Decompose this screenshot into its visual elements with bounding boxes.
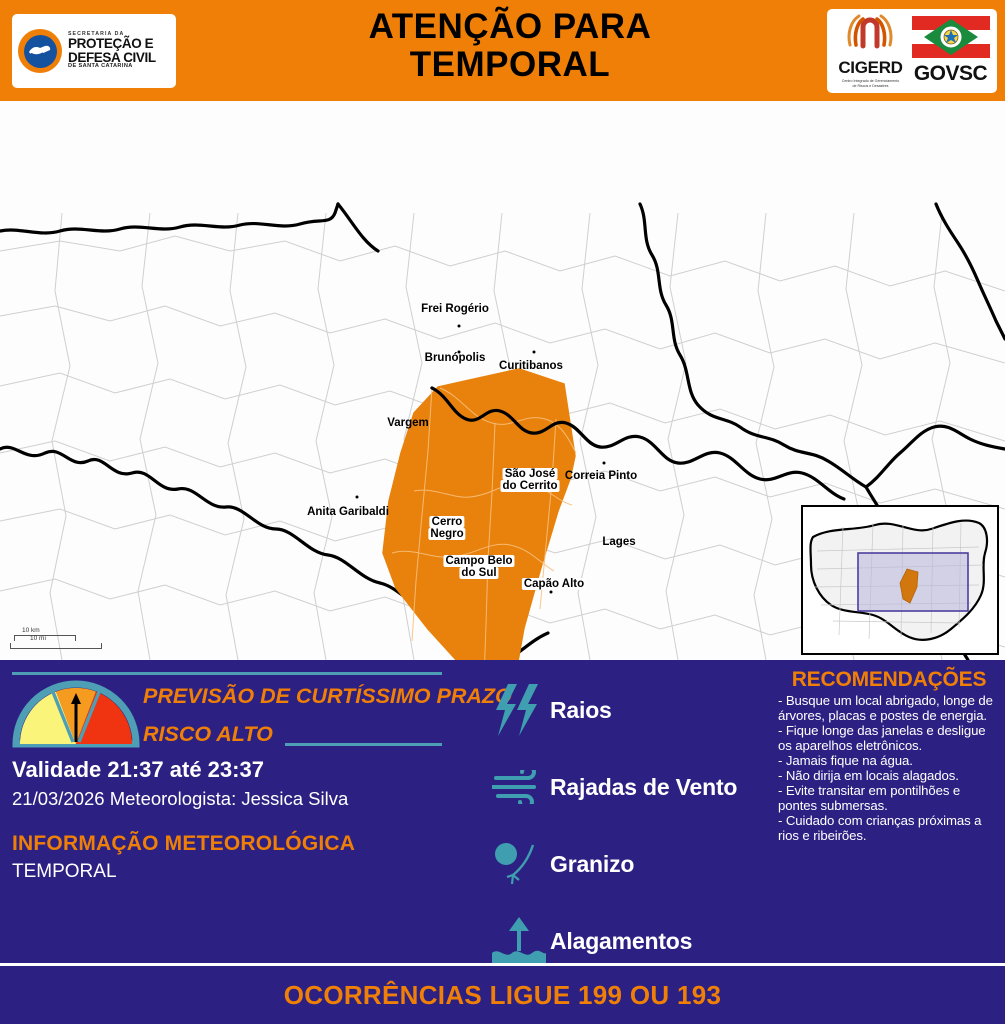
hazard-label: Granizo bbox=[550, 851, 634, 878]
recommendation-item: - Fique longe das janelas e desligue os … bbox=[778, 723, 1000, 753]
divider-risk bbox=[285, 743, 442, 746]
city-label: São Josédo Cerrito bbox=[501, 468, 560, 493]
cigerd-sub-2: de Riscos e Desastres bbox=[833, 84, 909, 88]
locator-inset-map bbox=[801, 505, 999, 655]
hail-icon bbox=[488, 841, 550, 887]
city-label: Capão Alto bbox=[522, 578, 586, 590]
city-dot bbox=[458, 325, 461, 328]
defesa-civil-logo: SECRETARIA DA PROTEÇÃO E DEFESA CIVIL DE… bbox=[12, 14, 176, 88]
recommendation-item: - Cuidado com crianças próximas a rios e… bbox=[778, 813, 1000, 843]
meteorologist-text: 21/03/2026 Meteorologista: Jessica Silva bbox=[12, 788, 348, 810]
inset-vector bbox=[803, 507, 997, 653]
city-label: Brunópolis bbox=[425, 352, 486, 364]
govsc-name: GOVSC bbox=[910, 62, 992, 86]
hazard-label: Alagamentos bbox=[550, 928, 692, 955]
alert-map[interactable]: Frei Rogério Brunópolis Curitibanos Varg… bbox=[0, 101, 1005, 660]
gov-suffix: SC bbox=[959, 62, 987, 85]
emergency-footer: OCORRÊNCIAS LIGUE 199 OU 193 bbox=[0, 963, 1005, 1024]
recommendation-item: - Não dirija em locais alagados. bbox=[778, 768, 1000, 783]
title-line-1: ATENÇÃO PARA bbox=[230, 8, 790, 46]
risk-gauge bbox=[12, 680, 140, 748]
cigerd-sub-1: Centro Integrado de Gerenciamento bbox=[833, 79, 909, 83]
city-label: Anita Garibaldi bbox=[307, 506, 389, 518]
city-dot bbox=[603, 462, 606, 465]
city-label: Vargem bbox=[387, 417, 429, 429]
logo-line-santa-catarina: DE SANTA CATARINA bbox=[68, 64, 156, 70]
santa-catarina-flag-icon bbox=[912, 16, 990, 58]
govsc-logo: GOVSC bbox=[910, 16, 992, 86]
partner-logos: CIGERD Centro Integrado de Gerenciamento… bbox=[827, 9, 997, 93]
cigerd-subtitle: Centro Integrado de Gerenciamento de Ris… bbox=[833, 79, 909, 88]
city-dot bbox=[550, 591, 553, 594]
hazard-label: Raios bbox=[550, 697, 612, 724]
hazard-item-granizo: Granizo bbox=[488, 826, 778, 902]
cigerd-name: CIGERD bbox=[833, 58, 909, 78]
scale-km-label: 10 km bbox=[22, 627, 40, 634]
logo-line-defesa-civil: DEFESA CIVIL bbox=[68, 51, 156, 65]
city-label: Frei Rogério bbox=[421, 303, 489, 315]
city-label: CerroNegro bbox=[428, 516, 465, 541]
city-label: Curitibanos bbox=[499, 360, 563, 372]
emergency-phone-text: OCORRÊNCIAS LIGUE 199 OU 193 bbox=[284, 980, 722, 1011]
recommendation-item: - Evite transitar em pontilhões e pontes… bbox=[778, 783, 1000, 813]
flood-icon bbox=[488, 917, 550, 965]
validity-text: Validade 21:37 até 23:37 bbox=[12, 757, 264, 783]
city-dot bbox=[356, 496, 359, 499]
meteorological-info-value: TEMPORAL bbox=[12, 861, 117, 883]
page-title: ATENÇÃO PARA TEMPORAL bbox=[230, 8, 790, 84]
city-dot bbox=[533, 351, 536, 354]
hazard-list: Raios Rajadas de Vento bbox=[488, 672, 778, 980]
city-label: Lages bbox=[602, 536, 635, 548]
gauge-icon bbox=[12, 680, 140, 748]
cigerd-waves-icon bbox=[843, 14, 899, 52]
city-dot bbox=[458, 351, 461, 354]
divider-top bbox=[12, 672, 442, 675]
title-line-2: TEMPORAL bbox=[230, 46, 790, 84]
city-label: Campo Belodo Sul bbox=[443, 555, 514, 580]
cigerd-logo: CIGERD Centro Integrado de Gerenciamento… bbox=[833, 14, 909, 88]
defesa-civil-badge-icon bbox=[18, 29, 62, 73]
alert-infographic: SECRETARIA DA PROTEÇÃO E DEFESA CIVIL DE… bbox=[0, 0, 1005, 1024]
meteorological-info-title: INFORMAÇÃO METEOROLÓGICA bbox=[12, 832, 355, 856]
hands-icon bbox=[28, 44, 52, 58]
logo-line-protecao: PROTEÇÃO E bbox=[68, 37, 156, 51]
map-scale-bar: 10 km 10 mi bbox=[8, 627, 104, 646]
wind-icon bbox=[488, 770, 550, 804]
forecast-heading: PREVISÃO DE CURTÍSSIMO PRAZO bbox=[143, 684, 512, 709]
recommendations-panel: RECOMENDAÇÕES - Busque um local abrigado… bbox=[778, 668, 1000, 843]
hazard-item-vento: Rajadas de Vento bbox=[488, 749, 778, 825]
header-banner: SECRETARIA DA PROTEÇÃO E DEFESA CIVIL DE… bbox=[0, 0, 1005, 101]
recommendations-title: RECOMENDAÇÕES bbox=[778, 668, 1000, 692]
city-label: Correia Pinto bbox=[565, 470, 637, 482]
gov-prefix: GOV bbox=[914, 62, 959, 85]
recommendation-item: - Busque um local abrigado, longe de árv… bbox=[778, 693, 1000, 723]
hazard-item-raios: Raios bbox=[488, 672, 778, 748]
recommendation-item: - Jamais fique na água. bbox=[778, 753, 1000, 768]
scale-mi-label: 10 mi bbox=[30, 635, 46, 642]
risk-level-label: RISCO ALTO bbox=[143, 722, 273, 747]
recommendations-list: - Busque um local abrigado, longe de árv… bbox=[778, 693, 1000, 843]
hazard-label: Rajadas de Vento bbox=[550, 774, 737, 801]
lightning-icon bbox=[488, 684, 550, 736]
